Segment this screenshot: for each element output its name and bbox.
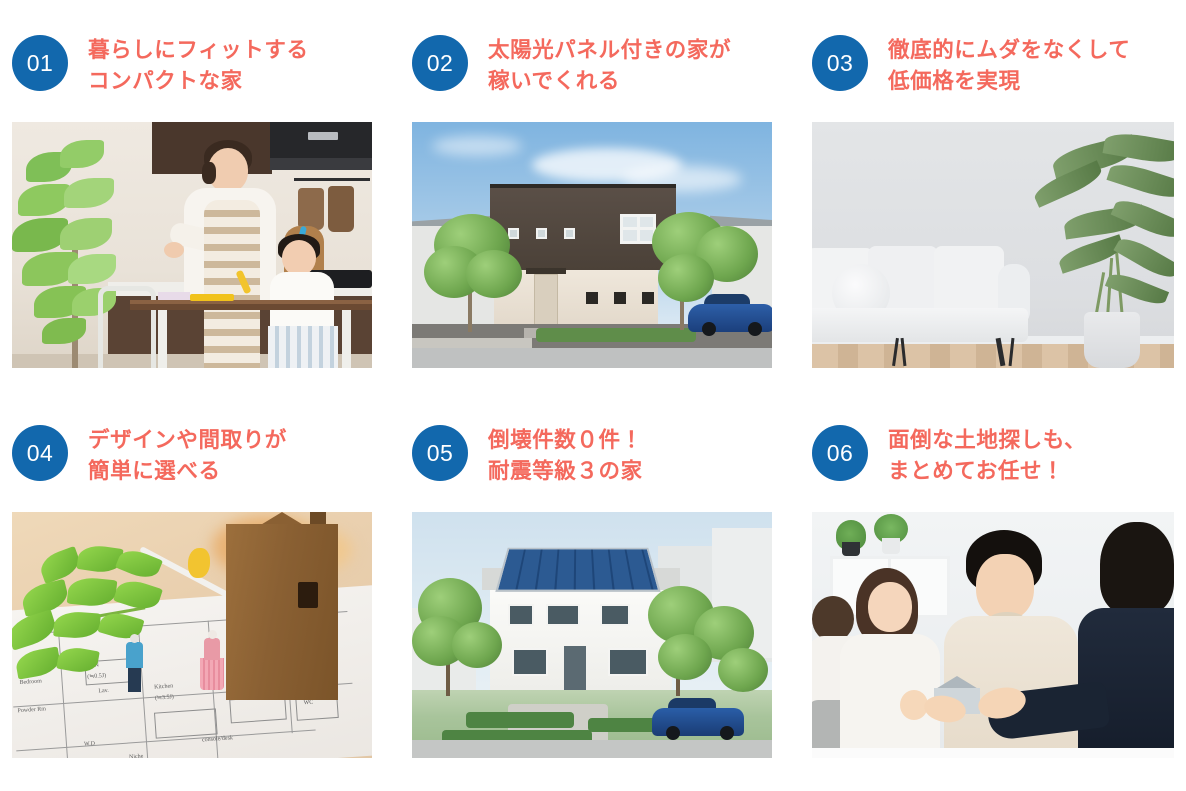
floorplan-label-niche: Niche xyxy=(129,754,144,758)
floorplan-label-kitchen-size: (≒3.5J) xyxy=(155,693,174,701)
photo-kitchen-family xyxy=(12,122,372,368)
feature-card-05: 05 倒壊件数０件！ 耐震等級３の家 xyxy=(400,390,800,780)
card-header-02: 02 太陽光パネル付きの家が 稼いでくれる xyxy=(400,0,800,88)
floorplan-label-wc: WC xyxy=(303,700,313,707)
feature-title-03: 徹底的にムダをなくして 低価格を実現 xyxy=(888,34,1130,96)
floorplan-label-wd: W.D xyxy=(84,741,95,748)
feature-number-badge-04: 04 xyxy=(12,425,68,481)
floorplan-label-lav: Lav. xyxy=(98,688,109,695)
feature-number-badge-02: 02 xyxy=(412,35,468,91)
feature-title-02: 太陽光パネル付きの家が 稼いでくれる xyxy=(488,34,731,96)
feature-title-04: デザインや間取りが 簡単に選べる xyxy=(88,424,287,486)
photo-family-consultation xyxy=(812,512,1174,758)
feature-title-05: 倒壊件数０件！ 耐震等級３の家 xyxy=(488,424,643,486)
feature-card-06: 06 面倒な土地探しも、 まとめてお任せ！ xyxy=(800,390,1186,780)
photo-house-model-floorplan: Bedroom N (≒0.5J) Lav. Powder Rm Kitchen… xyxy=(12,512,372,758)
card-header-03: 03 徹底的にムダをなくして 低価格を実現 xyxy=(800,0,1186,88)
photo-house-exterior xyxy=(412,122,772,368)
feature-number-badge-01: 01 xyxy=(12,35,68,91)
features-grid: 01 暮らしにフィットする コンパクトな家 xyxy=(0,0,1186,791)
card-header-06: 06 面倒な土地探しも、 まとめてお任せ！ xyxy=(800,390,1186,478)
feature-card-02: 02 太陽光パネル付きの家が 稼いでくれる xyxy=(400,0,800,390)
feature-card-03: 03 徹底的にムダをなくして 低価格を実現 xyxy=(800,0,1186,390)
feature-card-04: 04 デザインや間取りが 簡単に選べる Bedroom N (≒0 xyxy=(0,390,400,780)
feature-number-badge-06: 06 xyxy=(812,425,868,481)
card-header-04: 04 デザインや間取りが 簡単に選べる xyxy=(0,390,400,478)
feature-card-01: 01 暮らしにフィットする コンパクトな家 xyxy=(0,0,400,390)
floorplan-label-n-size: (≒0.5J) xyxy=(87,672,106,680)
floorplan-label-bedroom: Bedroom xyxy=(19,678,42,686)
feature-title-01: 暮らしにフィットする コンパクトな家 xyxy=(88,34,309,96)
card-header-05: 05 倒壊件数０件！ 耐震等級３の家 xyxy=(400,390,800,478)
floorplan-label-powder: Powder Rm xyxy=(17,706,46,714)
photo-solar-house xyxy=(412,512,772,758)
feature-number-badge-03: 03 xyxy=(812,35,868,91)
feature-number-badge-05: 05 xyxy=(412,425,468,481)
floorplan-label-kitchen: Kitchen xyxy=(154,683,173,690)
photo-living-room xyxy=(812,122,1174,368)
feature-title-06: 面倒な土地探しも、 まとめてお任せ！ xyxy=(888,424,1086,486)
card-header-01: 01 暮らしにフィットする コンパクトな家 xyxy=(0,0,400,88)
floorplan-label-console: console/desk xyxy=(202,735,233,743)
